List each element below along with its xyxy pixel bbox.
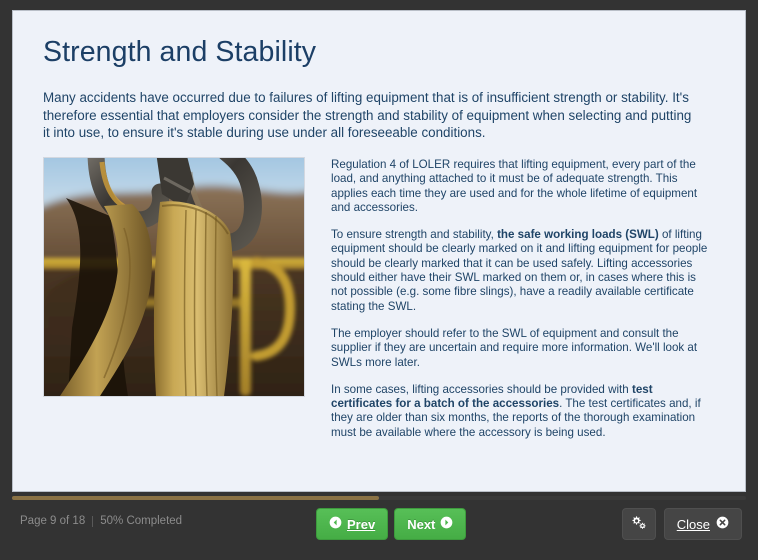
- navigation-buttons: Prev Next: [316, 508, 466, 540]
- slide-content: Strength and Stability Many accidents ha…: [13, 11, 745, 440]
- close-circle-icon: [716, 516, 729, 532]
- prev-button[interactable]: Prev: [316, 508, 388, 540]
- player-footer: Page 9 of 18 50% Completed Prev Next: [0, 502, 758, 560]
- slide-panel: Strength and Stability Many accidents ha…: [12, 10, 746, 492]
- next-button-label: Next: [407, 517, 435, 532]
- slide-intro-paragraph: Many accidents have occurred due to fail…: [43, 89, 699, 141]
- plain-text: The employer should refer to the SWL of …: [331, 327, 697, 369]
- next-button[interactable]: Next: [394, 508, 466, 540]
- settings-button[interactable]: [622, 508, 656, 540]
- prev-button-label: Prev: [347, 517, 375, 532]
- plain-text: To ensure strength and stability,: [331, 228, 497, 241]
- close-button[interactable]: Close: [664, 508, 742, 540]
- progress-bar-track[interactable]: [12, 496, 746, 500]
- plain-text: In some cases, lifting accessories shoul…: [331, 383, 632, 396]
- page-status: Page 9 of 18 50% Completed: [20, 515, 182, 527]
- chevron-circle-left-icon: [329, 516, 342, 532]
- course-player: Strength and Stability Many accidents ha…: [0, 0, 758, 560]
- cogs-icon: [630, 515, 647, 533]
- body-text-column: Regulation 4 of LOLER requires that lift…: [305, 157, 713, 440]
- media-column: [43, 157, 305, 397]
- close-button-label: Close: [677, 517, 710, 532]
- body-paragraph: To ensure strength and stability, the sa…: [331, 228, 713, 314]
- emphasis-text: the safe working loads (SWL): [497, 228, 659, 241]
- status-divider: [92, 516, 93, 527]
- plain-text: Regulation 4 of LOLER requires that lift…: [331, 158, 697, 214]
- player-controls: Close: [622, 508, 742, 540]
- content-columns: Regulation 4 of LOLER requires that lift…: [43, 157, 713, 440]
- body-paragraph: In some cases, lifting accessories shoul…: [331, 383, 713, 440]
- page-title: Strength and Stability: [43, 37, 713, 68]
- body-paragraph: The employer should refer to the SWL of …: [331, 327, 713, 370]
- completion-label: 50% Completed: [100, 515, 182, 527]
- chevron-circle-right-icon: [440, 516, 453, 532]
- page-number-label: Page 9 of 18: [20, 515, 85, 527]
- body-paragraph: Regulation 4 of LOLER requires that lift…: [331, 158, 713, 215]
- lifting-slings-photo: [43, 157, 305, 397]
- progress-bar-fill: [12, 496, 379, 500]
